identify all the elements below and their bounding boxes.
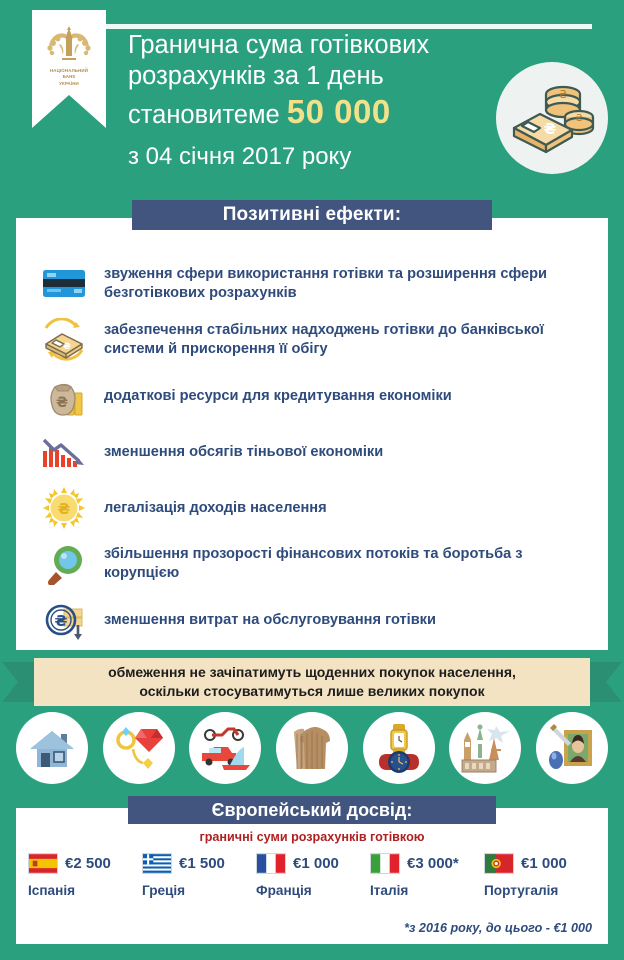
flag-portugal-icon	[484, 853, 514, 874]
country-name-portugal: Португалія	[484, 883, 596, 898]
header-section: НАЦІОНАЛЬНИЙ БАНК УКРАЇНИ Гранична сума …	[0, 0, 624, 196]
country-amount-spain: €2 500	[65, 855, 111, 872]
ribbon-body: обмеження не зачіпатимуть щоденних покуп…	[34, 658, 590, 706]
european-footnote: *з 2016 року, до цього - €1 000	[404, 921, 592, 935]
declining-chart-icon	[38, 428, 90, 476]
hryvnia-down-arrow-icon: ₴	[38, 596, 90, 644]
travel-landmarks-icon	[449, 712, 521, 784]
watches-icon	[363, 712, 435, 784]
header-amount-prefix: становитеме	[128, 101, 280, 129]
country-amount-greece: €1 500	[179, 855, 225, 872]
effect-text-1: звуження сфери використання готівки та р…	[104, 265, 594, 302]
ribbon-line-1: обмеження не зачіпатимуть щоденних покуп…	[108, 663, 516, 682]
country-item-spain: €2 500 Іспанія	[28, 850, 140, 906]
flag-france-icon	[256, 853, 286, 874]
effect-item-5: ₴ легалізація доходів населення	[38, 480, 594, 536]
positive-effects-list: звуження сфери використання готівки та р…	[16, 248, 608, 648]
effect-text-3: додаткові ресурси для кредитування еконо…	[104, 387, 452, 406]
cash-cycle-icon: ₴	[38, 316, 90, 364]
money-bag-coins-icon: ₴	[38, 372, 90, 420]
svg-text:₴: ₴	[63, 342, 71, 352]
effect-item-4: зменшення обсягів тіньової економіки	[38, 424, 594, 480]
effect-item-3: ₴ додаткові ресурси для кредитування еко…	[38, 368, 594, 424]
house-icon	[16, 712, 88, 784]
nbu-logo-ribbon: НАЦІОНАЛЬНИЙ БАНК УКРАЇНИ	[32, 10, 106, 128]
nbu-emblem-icon	[40, 22, 98, 66]
svg-text:₴: ₴	[55, 612, 68, 630]
effect-text-4: зменшення обсягів тіньової економіки	[104, 443, 383, 462]
country-name-italy: Італія	[370, 883, 482, 898]
svg-text:₴: ₴	[575, 113, 583, 124]
header-date: з 04 січня 2017 року	[128, 142, 510, 171]
european-countries-list: €2 500 Іспанія	[16, 850, 608, 906]
country-row-italy: €3 000*	[370, 850, 482, 876]
flag-greece-icon	[142, 853, 172, 874]
country-name-spain: Іспанія	[28, 883, 140, 898]
effect-text-5: легалізація доходів населення	[104, 499, 327, 518]
effect-text-7: зменшення витрат на обслуговування готів…	[104, 611, 436, 630]
svg-text:₴: ₴	[58, 500, 71, 518]
svg-text:₴: ₴	[559, 88, 568, 101]
country-item-portugal: €1 000 Португалія	[484, 850, 596, 906]
country-amount-portugal: €1 000	[521, 855, 567, 872]
header-title-line-1: Гранична сума готівкових	[128, 30, 510, 61]
cash-and-coins-icon: ₴ ₴ ₴	[496, 62, 608, 174]
restriction-ribbon: обмеження не зачіпатимуть щоденних покуп…	[0, 658, 624, 706]
effect-item-2: ₴ забезпечення стабільних надходжень гот…	[38, 312, 594, 368]
country-item-france: €1 000 Франція	[256, 850, 368, 906]
effect-text-2: забезпечення стабільних надходжень готів…	[104, 321, 594, 358]
fur-coat-icon	[276, 712, 348, 784]
country-amount-france: €1 000	[293, 855, 339, 872]
vehicles-icon	[189, 712, 261, 784]
country-amount-italy: €3 000*	[407, 855, 459, 872]
logo-caption-line-3: УКРАЇНИ	[50, 81, 88, 87]
flag-spain-icon	[28, 853, 58, 874]
country-name-france: Франція	[256, 883, 368, 898]
nbu-logo-caption: НАЦІОНАЛЬНИЙ БАНК УКРАЇНИ	[50, 68, 88, 87]
positive-effects-title: Позитивні ефекти:	[132, 200, 492, 230]
country-row-france: €1 000	[256, 850, 368, 876]
header-title: Гранична сума готівкових розрахунків за …	[128, 30, 510, 172]
positive-effects-card: звуження сфери використання готівки та р…	[16, 218, 608, 650]
header-title-line-3: становитеме 50 000	[128, 92, 510, 132]
country-row-greece: €1 500	[142, 850, 254, 876]
svg-text:₴: ₴	[56, 395, 68, 411]
artwork-icon	[536, 712, 608, 784]
goods-icon-strip	[10, 712, 614, 784]
ribbon-line-2: оскільки стосуватимуться лише великих по…	[139, 682, 484, 701]
sun-hryvnia-icon: ₴	[38, 484, 90, 532]
effect-item-7: ₴ зменшення витрат на обслуговування гот…	[38, 592, 594, 648]
european-subtitle: граничні суми розрахунків готівкою	[16, 830, 608, 844]
flag-italy-icon	[370, 853, 400, 874]
country-item-greece: €1 500 Греція	[142, 850, 254, 906]
country-row-portugal: €1 000	[484, 850, 596, 876]
infographic-page: НАЦІОНАЛЬНИЙ БАНК УКРАЇНИ Гранична сума …	[0, 0, 624, 960]
header-amount-value: 50 000	[287, 93, 391, 130]
effect-item-6: збільшення прозорості фінансових потоків…	[38, 536, 594, 592]
header-title-line-2: розрахунків за 1 день	[128, 61, 510, 92]
credit-card-icon	[38, 260, 90, 308]
country-row-spain: €2 500	[28, 850, 140, 876]
magnifier-icon	[38, 540, 90, 588]
svg-text:₴: ₴	[544, 120, 557, 138]
header-rule	[36, 24, 592, 29]
european-experience-title: Європейський досвід:	[128, 796, 496, 824]
effect-text-6: збільшення прозорості фінансових потоків…	[104, 545, 594, 582]
country-item-italy: €3 000* Італія	[370, 850, 482, 906]
effect-item-1: звуження сфери використання готівки та р…	[38, 256, 594, 312]
european-experience-card: граничні суми розрахунків готівкою €2 50…	[16, 808, 608, 944]
jewelry-icon	[103, 712, 175, 784]
country-name-greece: Греція	[142, 883, 254, 898]
